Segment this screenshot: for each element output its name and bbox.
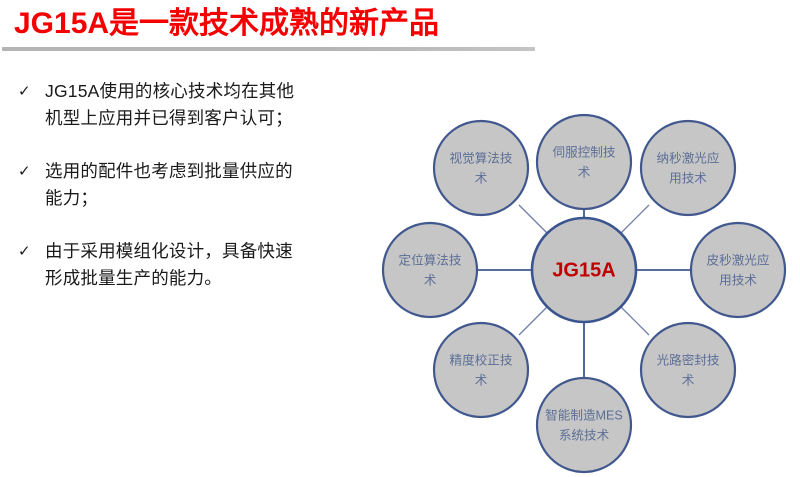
node-label-line: 术 (475, 171, 488, 185)
list-item: ✓ 由于采用模组化设计，具备快速 形成批量生产的能力。 (0, 238, 390, 292)
check-icon: ✓ (18, 159, 31, 184)
slide-canvas: JG15A是一款技术成熟的新产品 ✓ JG15A使用的核心技术均在其他 机型上应… (0, 0, 800, 477)
node-label-line: 纳秒激光应 (657, 150, 720, 165)
node-circle (641, 323, 735, 417)
hub-and-spoke-diagram: 伺服控制技 术 纳秒激光应 用技术 皮秒激光应 用技术 光路密封技 术 (350, 48, 800, 477)
node-label-line: 术 (475, 373, 488, 387)
diagram-node-positioning-algorithm[interactable]: 定位算法技 术 (383, 223, 477, 317)
node-circle (641, 121, 735, 215)
node-label-line: 定位算法技 (399, 253, 462, 267)
node-circle (537, 115, 631, 209)
diagram-node-center[interactable]: JG15A (532, 218, 636, 322)
diagram-node-smart-manufacturing-mes[interactable]: 智能制造MES 系统技术 (537, 378, 631, 472)
list-item-line: JG15A使用的核心技术均在其他 (45, 78, 390, 105)
node-label-line: 术 (424, 273, 437, 287)
node-label-line: 用技术 (669, 171, 707, 185)
list-item-line: 选用的配件也考虑到批量供应的 (45, 158, 390, 185)
diagram-node-accuracy-calibration[interactable]: 精度校正技 术 (434, 323, 528, 417)
node-label-line: 系统技术 (559, 428, 610, 442)
center-label: JG15A (552, 259, 615, 281)
node-label-line: 智能制造MES (545, 408, 623, 422)
diagram-node-servo-control[interactable]: 伺服控制技 术 (537, 115, 631, 209)
node-label-line: 术 (682, 373, 695, 387)
node-circle (537, 378, 631, 472)
diagram-node-optical-path-sealing[interactable]: 光路密封技 术 (641, 323, 735, 417)
connector-line-accuracy-calibration (519, 307, 547, 335)
check-icon: ✓ (18, 239, 31, 264)
list-item: ✓ JG15A使用的核心技术均在其他 机型上应用并已得到客户认可； (0, 78, 390, 132)
node-label-line: 术 (578, 165, 591, 179)
node-label-line: 用技术 (719, 273, 757, 287)
diagram-node-nanosecond-laser[interactable]: 纳秒激光应 用技术 (641, 121, 735, 215)
list-item: ✓ 选用的配件也考虑到批量供应的 能力； (0, 158, 390, 212)
node-label-line: 视觉算法技 (450, 150, 513, 165)
connector-line-vision-algorithm (519, 205, 547, 233)
check-icon: ✓ (18, 79, 31, 104)
page-title: JG15A是一款技术成熟的新产品 (14, 4, 439, 44)
node-circle (434, 323, 528, 417)
list-item-line: 由于采用模组化设计，具备快速 (45, 238, 390, 265)
node-label-line: 精度校正技 (450, 352, 513, 367)
node-label-line: 皮秒激光应 (707, 252, 770, 267)
connector-line-nanosecond-laser (621, 205, 649, 233)
connector-line-optical-path-sealing (621, 307, 649, 335)
node-circle (434, 121, 528, 215)
list-item-line: 形成批量生产的能力。 (45, 265, 390, 292)
node-label-line: 伺服控制技 (553, 145, 616, 159)
node-circle (691, 223, 785, 317)
list-item-line: 机型上应用并已得到客户认可； (45, 105, 390, 132)
list-item-line: 能力； (45, 185, 390, 212)
diagram-node-vision-algorithm[interactable]: 视觉算法技 术 (434, 121, 528, 215)
node-label-line: 光路密封技 (657, 352, 720, 367)
node-circle (383, 223, 477, 317)
bullet-list: ✓ JG15A使用的核心技术均在其他 机型上应用并已得到客户认可； ✓ 选用的配… (0, 78, 390, 318)
diagram-node-picosecond-laser[interactable]: 皮秒激光应 用技术 (691, 223, 785, 317)
